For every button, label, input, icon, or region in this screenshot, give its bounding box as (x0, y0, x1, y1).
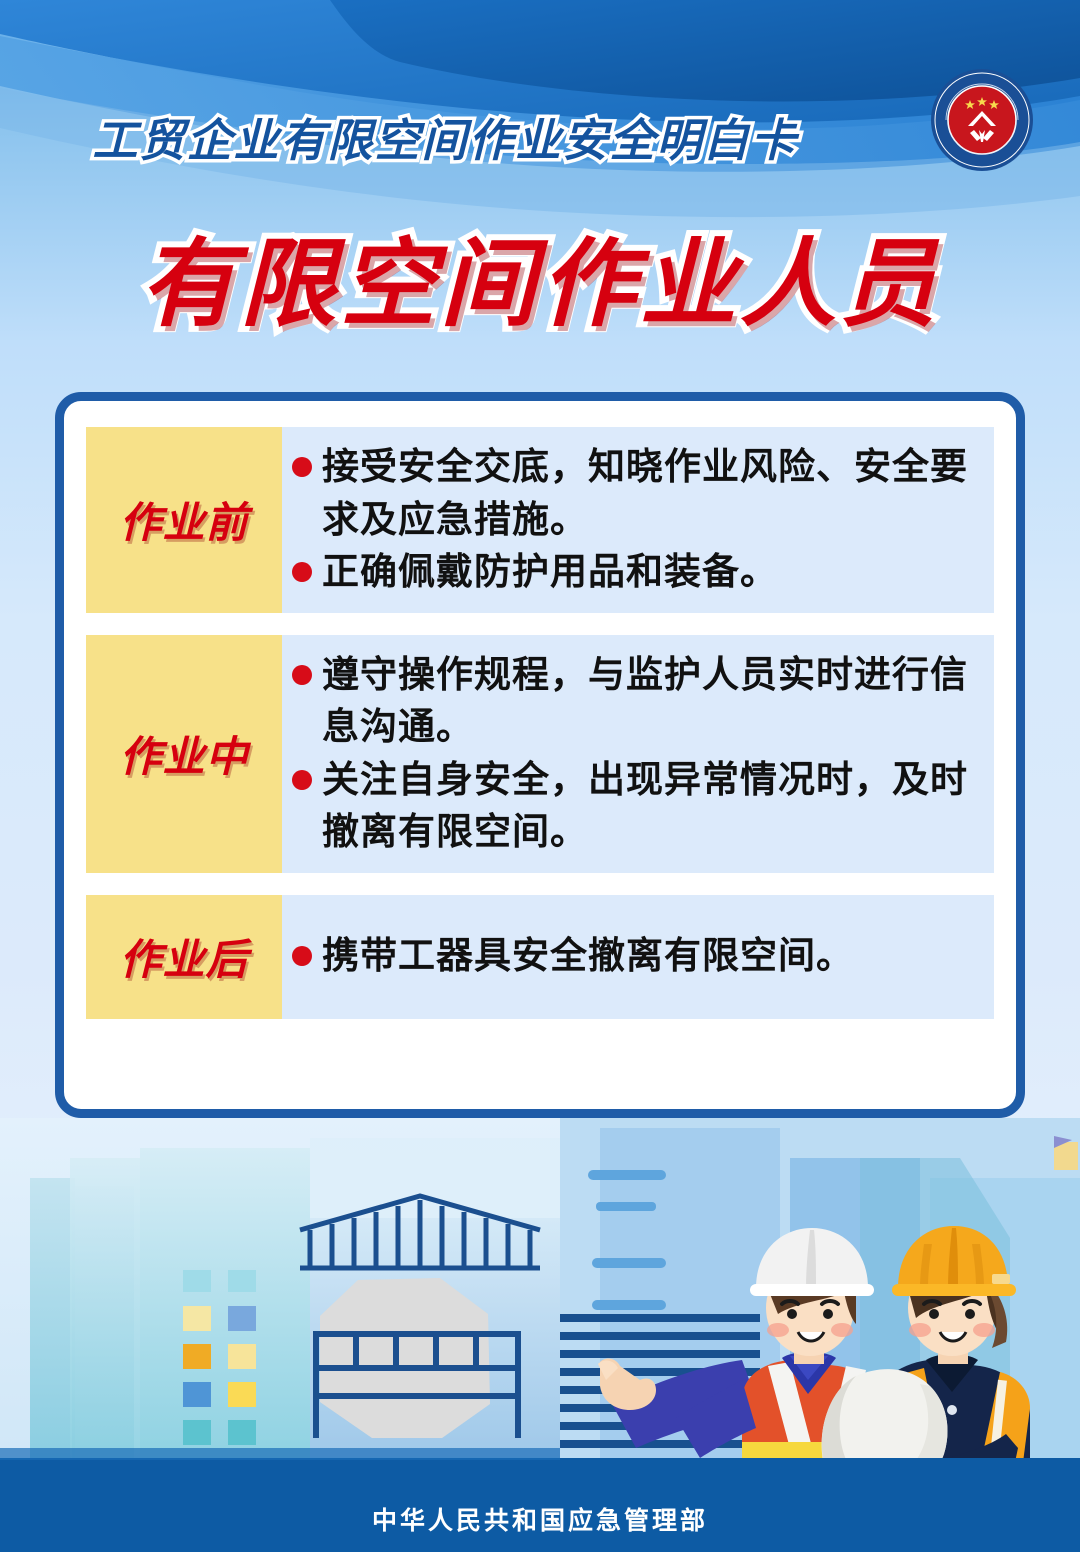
poster-main-title: 有限空间作业人员 (0, 206, 1080, 345)
section-body-during: 遵守操作规程，与监护人员实时进行信息沟通。 关注自身安全，出现异常情况时，及时撤… (282, 635, 994, 873)
bullet-dot-icon (292, 562, 312, 582)
footer-bar: 中华人民共和国应急管理部 (0, 1486, 1080, 1552)
section-label-during: 作业中 (86, 635, 282, 873)
poster-subtitle: 工贸企业有限空间作业安全明白卡 (0, 104, 890, 169)
industrial-site-illustration (0, 1118, 1080, 1486)
content-card: 作业前 接受安全交底，知晓作业风险、安全要求及应急措施。 正确佩戴防护用品和装备… (55, 392, 1025, 1118)
poster-root: 工贸企业有限空间作业安全明白卡 有限空间作业人员 作业前 接受安全交底，知晓作业… (0, 0, 1080, 1552)
list-item: 关注自身安全，出现异常情况时，及时撤离有限空间。 (292, 754, 968, 859)
china-emergency-management-emblem (930, 68, 1034, 172)
section-body-before: 接受安全交底，知晓作业风险、安全要求及应急措施。 正确佩戴防护用品和装备。 (282, 427, 994, 613)
bullet-dot-icon (292, 665, 312, 685)
list-item: 遵守操作规程，与监护人员实时进行信息沟通。 (292, 649, 968, 754)
bullet-text: 正确佩戴防护用品和装备。 (322, 546, 778, 599)
list-item: 接受安全交底，知晓作业风险、安全要求及应急措施。 (292, 441, 968, 546)
section-during-work: 作业中 遵守操作规程，与监护人员实时进行信息沟通。 关注自身安全，出现异常情况时… (86, 635, 994, 873)
bullet-text: 接受安全交底，知晓作业风险、安全要求及应急措施。 (322, 441, 968, 546)
list-item: 携带工器具安全撤离有限空间。 (292, 930, 968, 983)
section-divider (86, 613, 994, 635)
list-item: 正确佩戴防护用品和装备。 (292, 546, 968, 599)
bullet-text: 关注自身安全，出现异常情况时，及时撤离有限空间。 (322, 754, 968, 859)
section-divider (86, 873, 994, 895)
section-before-work: 作业前 接受安全交底，知晓作业风险、安全要求及应急措施。 正确佩戴防护用品和装备… (86, 427, 994, 613)
bullet-text: 遵守操作规程，与监护人员实时进行信息沟通。 (322, 649, 968, 754)
section-label-after: 作业后 (86, 895, 282, 1019)
section-label-before: 作业前 (86, 427, 282, 613)
bullet-dot-icon (292, 946, 312, 966)
section-after-work: 作业后 携带工器具安全撤离有限空间。 (86, 895, 994, 1019)
bullet-text: 携带工器具安全撤离有限空间。 (322, 930, 854, 983)
bullet-dot-icon (292, 457, 312, 477)
bullet-dot-icon (292, 770, 312, 790)
section-body-after: 携带工器具安全撤离有限空间。 (282, 895, 994, 1019)
footer-text: 中华人民共和国应急管理部 (372, 1501, 708, 1537)
